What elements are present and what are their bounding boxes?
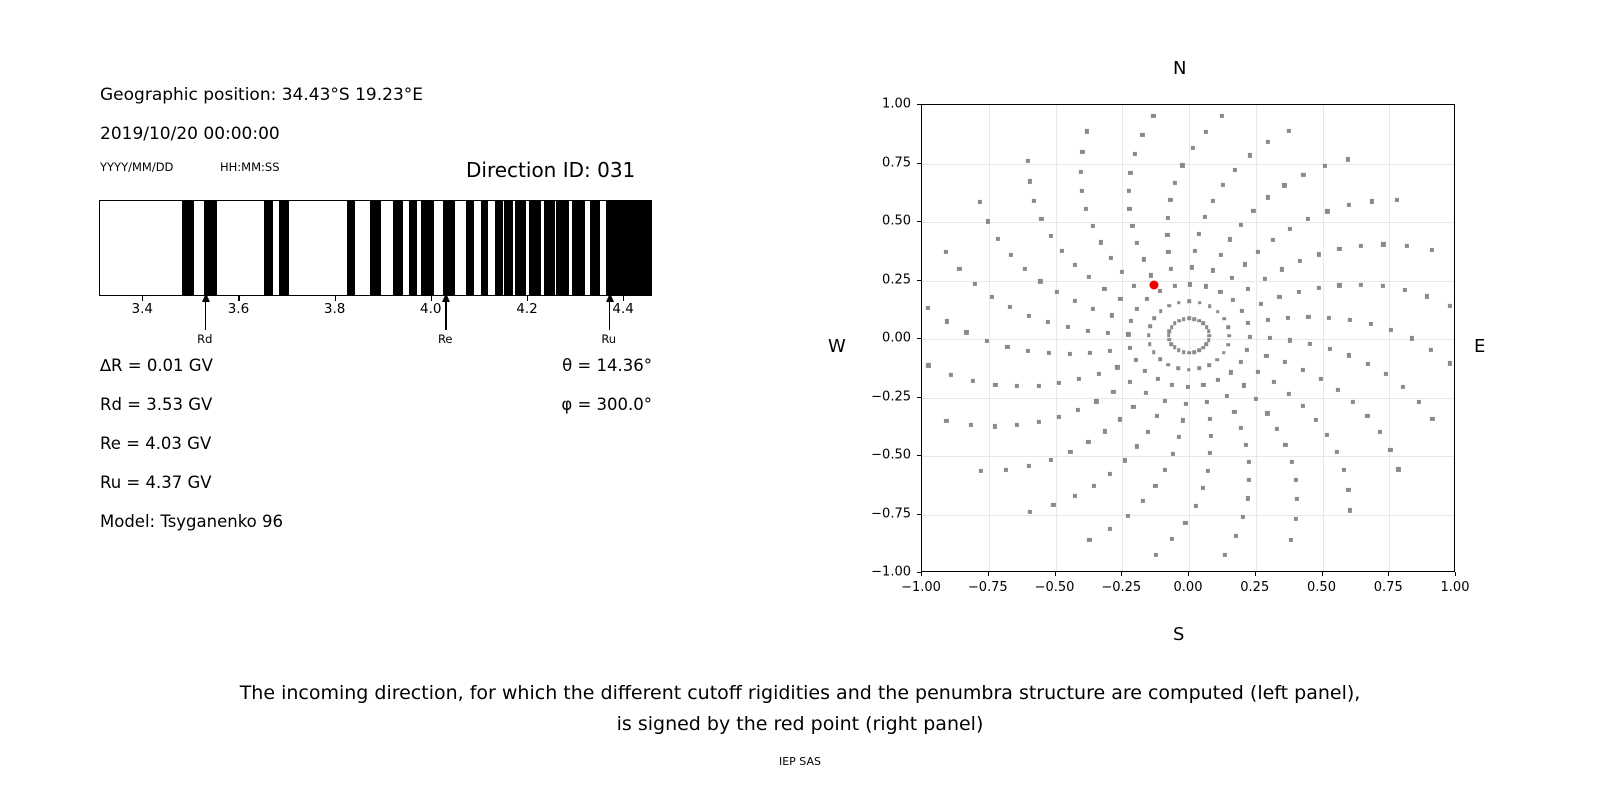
direction-dot bbox=[1038, 279, 1042, 283]
direction-dot bbox=[1282, 183, 1286, 187]
direction-dot bbox=[1271, 238, 1275, 242]
direction-dot bbox=[1283, 360, 1287, 364]
direction-dot bbox=[1126, 332, 1130, 336]
direction-dot bbox=[1163, 468, 1167, 472]
direction-dot bbox=[1228, 334, 1232, 338]
direction-dot bbox=[1027, 313, 1031, 317]
gridline-horizontal bbox=[922, 456, 1454, 457]
direction-dot bbox=[1277, 295, 1281, 299]
direction-dot bbox=[1409, 336, 1413, 340]
direction-dot bbox=[1240, 309, 1244, 313]
direction-dot bbox=[1216, 358, 1220, 362]
gridline-vertical bbox=[1122, 105, 1123, 571]
direction-dot bbox=[1401, 385, 1405, 389]
direction-dot bbox=[1036, 383, 1040, 387]
direction-dot bbox=[971, 379, 975, 383]
direction-dot bbox=[1271, 380, 1275, 384]
direction-dot bbox=[1266, 318, 1270, 322]
compass-west-label: W bbox=[828, 336, 846, 357]
scatter-y-tick-label: −0.75 bbox=[849, 506, 911, 521]
gridline-vertical bbox=[1189, 105, 1190, 571]
direction-dot bbox=[1337, 283, 1341, 287]
direction-dot bbox=[1241, 515, 1245, 519]
direction-dot bbox=[1216, 310, 1220, 314]
scatter-x-tick bbox=[988, 572, 989, 576]
direction-dot bbox=[1134, 358, 1138, 362]
direction-dot bbox=[1266, 140, 1270, 144]
gridline-horizontal bbox=[922, 398, 1454, 399]
direction-dot bbox=[1120, 270, 1124, 274]
direction-dot bbox=[996, 237, 1000, 241]
direction-dot bbox=[1317, 286, 1321, 290]
direction-dot bbox=[1111, 390, 1115, 394]
direction-dot bbox=[1039, 217, 1043, 221]
direction-dot bbox=[1190, 146, 1194, 150]
direction-dot bbox=[1177, 301, 1181, 305]
direction-dot bbox=[1154, 553, 1158, 557]
direction-dot bbox=[1208, 451, 1212, 455]
direction-dot bbox=[1168, 198, 1172, 202]
direction-dot bbox=[1049, 234, 1053, 238]
direction-dot bbox=[1097, 372, 1101, 376]
direction-dot bbox=[1193, 248, 1197, 252]
direction-dot bbox=[1088, 351, 1092, 355]
scatter-y-tick-label: 0.00 bbox=[849, 331, 911, 346]
direction-dot bbox=[1047, 351, 1051, 355]
direction-dot bbox=[1193, 504, 1197, 508]
direction-dot bbox=[1370, 199, 1374, 203]
direction-dot bbox=[973, 282, 977, 286]
scatter-y-tick-label: 1.00 bbox=[849, 97, 911, 112]
direction-dot bbox=[1225, 394, 1229, 398]
scatter-y-tick bbox=[917, 572, 921, 573]
scatter-y-tick bbox=[917, 104, 921, 105]
direction-dot bbox=[990, 295, 994, 299]
direction-dot bbox=[1337, 247, 1341, 251]
direction-dot bbox=[1155, 414, 1159, 418]
direction-dot bbox=[1090, 224, 1094, 228]
direction-dot bbox=[1127, 189, 1131, 193]
direction-dot bbox=[1140, 133, 1144, 137]
direction-dot bbox=[979, 469, 983, 473]
direction-dot bbox=[1182, 317, 1186, 321]
direction-dot bbox=[1405, 244, 1409, 248]
direction-dot bbox=[1346, 157, 1350, 161]
direction-dot bbox=[1248, 153, 1252, 157]
direction-dot bbox=[926, 363, 930, 367]
direction-dot bbox=[1327, 316, 1331, 320]
scatter-x-tick bbox=[1255, 572, 1256, 576]
direction-dot bbox=[1286, 316, 1290, 320]
direction-dot bbox=[1186, 384, 1190, 388]
direction-dot bbox=[1087, 538, 1091, 542]
direction-dot bbox=[1201, 486, 1205, 490]
direction-dot bbox=[1165, 233, 1169, 237]
direction-dot bbox=[1076, 408, 1080, 412]
direction-dot bbox=[1346, 487, 1350, 491]
direction-dot bbox=[1216, 378, 1220, 382]
direction-dot bbox=[1127, 207, 1131, 211]
direction-dot bbox=[1306, 217, 1310, 221]
direction-dot bbox=[985, 339, 989, 343]
direction-dot bbox=[1231, 298, 1235, 302]
scatter-y-tick-label: −0.50 bbox=[849, 448, 911, 463]
direction-dot bbox=[1126, 513, 1130, 517]
direction-dot bbox=[1060, 249, 1064, 253]
direction-dot bbox=[1366, 362, 1370, 366]
direction-map-panel: N S W E −1.00−0.75−0.50−0.250.000.250.50… bbox=[0, 0, 1600, 660]
direction-dot bbox=[1169, 267, 1173, 271]
compass-east-label: E bbox=[1474, 336, 1485, 357]
direction-dot bbox=[1170, 342, 1174, 346]
direction-dot bbox=[1023, 267, 1027, 271]
direction-dot bbox=[1317, 252, 1321, 256]
direction-dot bbox=[1246, 321, 1250, 325]
direction-dot bbox=[1130, 224, 1134, 228]
caption-line-1: The incoming direction, for which the di… bbox=[0, 678, 1600, 709]
direction-dot bbox=[1201, 346, 1205, 350]
scatter-y-tick-label: −0.25 bbox=[849, 389, 911, 404]
caption-line-2: is signed by the red point (right panel) bbox=[0, 709, 1600, 740]
direction-dot bbox=[978, 200, 982, 204]
direction-dot bbox=[1170, 537, 1174, 541]
gridline-vertical bbox=[989, 105, 990, 571]
compass-south-label: S bbox=[1173, 624, 1184, 645]
direction-dot bbox=[1395, 198, 1399, 202]
direction-dot bbox=[1347, 353, 1351, 357]
direction-dot bbox=[1239, 360, 1243, 364]
direction-dot bbox=[1123, 458, 1127, 462]
direction-dot bbox=[1131, 405, 1135, 409]
direction-dot bbox=[1221, 183, 1225, 187]
direction-dot bbox=[969, 423, 973, 427]
direction-dot bbox=[1207, 329, 1211, 333]
direction-dot bbox=[1198, 301, 1202, 305]
direction-dot bbox=[1308, 342, 1312, 346]
direction-dot bbox=[1147, 333, 1151, 337]
direction-dot bbox=[1297, 290, 1301, 294]
direction-dot bbox=[1151, 114, 1155, 118]
scatter-x-tick bbox=[1121, 572, 1122, 576]
direction-dot bbox=[1301, 368, 1305, 372]
direction-dot bbox=[993, 383, 997, 387]
direction-dot bbox=[1245, 348, 1249, 352]
scatter-x-tick-label: 0.75 bbox=[1374, 580, 1403, 595]
direction-dot bbox=[1251, 208, 1255, 212]
direction-dot bbox=[1087, 275, 1091, 279]
direction-dot bbox=[1159, 309, 1163, 313]
direction-dot bbox=[1264, 353, 1268, 357]
gridline-horizontal bbox=[922, 164, 1454, 165]
direction-dot bbox=[1028, 510, 1032, 514]
direction-dot bbox=[1286, 129, 1290, 133]
direction-dot bbox=[1203, 215, 1207, 219]
direction-dot bbox=[1128, 170, 1132, 174]
direction-dot bbox=[1287, 392, 1291, 396]
direction-dot bbox=[1148, 325, 1152, 329]
direction-dot bbox=[1208, 304, 1212, 308]
direction-dot bbox=[1099, 240, 1103, 244]
direction-dot bbox=[1170, 382, 1174, 386]
gridline-horizontal bbox=[922, 339, 1454, 340]
direction-dot bbox=[1218, 290, 1222, 294]
direction-dot bbox=[1301, 404, 1305, 408]
scatter-y-tick bbox=[917, 221, 921, 222]
direction-dot bbox=[1205, 325, 1209, 329]
direction-dot bbox=[1294, 478, 1298, 482]
direction-dot bbox=[1447, 304, 1451, 308]
direction-dot bbox=[1403, 288, 1407, 292]
direction-dot bbox=[1163, 398, 1167, 402]
direction-dot bbox=[1228, 237, 1232, 241]
direction-dot bbox=[1066, 325, 1070, 329]
direction-dot bbox=[1248, 334, 1252, 338]
scatter-plot-area bbox=[921, 104, 1455, 572]
direction-dot bbox=[1266, 195, 1270, 199]
direction-dot bbox=[943, 250, 947, 254]
scatter-x-tick-label: −0.75 bbox=[968, 580, 1008, 595]
direction-dot bbox=[1417, 400, 1421, 404]
direction-dot bbox=[1135, 444, 1139, 448]
direction-dot bbox=[1110, 313, 1114, 317]
direction-dot bbox=[1233, 168, 1237, 172]
direction-dot bbox=[1197, 319, 1201, 323]
direction-dot bbox=[1389, 328, 1393, 332]
scatter-x-tick-label: 0.50 bbox=[1307, 580, 1336, 595]
direction-dot bbox=[1207, 334, 1211, 338]
direction-dot bbox=[1246, 496, 1250, 500]
direction-dot bbox=[1275, 427, 1279, 431]
direction-dot bbox=[1262, 277, 1266, 281]
scatter-y-tick bbox=[917, 280, 921, 281]
direction-dot bbox=[1188, 300, 1192, 304]
direction-dot bbox=[1108, 255, 1112, 259]
direction-dot bbox=[1201, 383, 1205, 387]
direction-dot bbox=[1181, 418, 1185, 422]
direction-dot bbox=[1243, 443, 1247, 447]
gridline-vertical bbox=[1056, 105, 1057, 571]
direction-dot bbox=[1085, 129, 1089, 133]
direction-dot bbox=[1168, 329, 1172, 333]
direction-dot bbox=[1144, 391, 1148, 395]
direction-dot bbox=[1280, 267, 1284, 271]
direction-dot bbox=[1171, 452, 1175, 456]
scatter-x-tick bbox=[921, 572, 922, 576]
direction-dot bbox=[1146, 430, 1150, 434]
gridline-horizontal bbox=[922, 281, 1454, 282]
direction-dot bbox=[1176, 366, 1180, 370]
direction-dot bbox=[1057, 415, 1061, 419]
direction-dot bbox=[1091, 307, 1095, 311]
direction-dot bbox=[1230, 276, 1234, 280]
direction-dot bbox=[1222, 317, 1226, 321]
direction-dot bbox=[1084, 207, 1088, 211]
direction-dot bbox=[1077, 377, 1081, 381]
direction-dot bbox=[1429, 347, 1433, 351]
direction-dot bbox=[1005, 345, 1009, 349]
direction-dot bbox=[1197, 348, 1201, 352]
direction-dot bbox=[1118, 297, 1122, 301]
direction-dot bbox=[1211, 268, 1215, 272]
direction-dot bbox=[1086, 329, 1090, 333]
direction-dot bbox=[1128, 346, 1132, 350]
direction-dot bbox=[1158, 358, 1162, 362]
direction-dot bbox=[1219, 253, 1223, 257]
scatter-y-tick-label: −1.00 bbox=[849, 565, 911, 580]
direction-dot bbox=[1051, 503, 1055, 507]
direction-dot bbox=[1294, 517, 1298, 521]
direction-dot bbox=[1348, 508, 1352, 512]
direction-dot bbox=[1153, 484, 1157, 488]
direction-dot bbox=[957, 267, 961, 271]
direction-dot bbox=[1129, 319, 1133, 323]
direction-dot bbox=[1027, 179, 1031, 183]
direction-dot bbox=[1325, 209, 1329, 213]
direction-dot bbox=[1298, 259, 1302, 263]
direction-dot bbox=[1254, 397, 1258, 401]
direction-dot bbox=[1172, 284, 1176, 288]
gridline-vertical bbox=[1256, 105, 1257, 571]
direction-dot bbox=[1015, 384, 1019, 388]
direction-dot bbox=[1086, 440, 1090, 444]
direction-dot bbox=[1211, 199, 1215, 203]
direction-dot bbox=[1233, 534, 1237, 538]
direction-dot bbox=[1314, 418, 1318, 422]
direction-dot bbox=[1448, 361, 1452, 365]
direction-dot bbox=[1152, 316, 1156, 320]
direction-dot bbox=[1239, 426, 1243, 430]
direction-dot bbox=[1256, 249, 1260, 253]
selected-direction-marker[interactable] bbox=[1150, 281, 1159, 290]
direction-dot bbox=[1222, 553, 1226, 557]
direction-dot bbox=[1135, 241, 1139, 245]
direction-dot bbox=[1222, 351, 1226, 355]
direction-dot bbox=[1207, 338, 1211, 342]
direction-dot bbox=[1180, 163, 1184, 167]
direction-dot bbox=[1290, 460, 1294, 464]
direction-dot bbox=[1197, 367, 1201, 371]
direction-dot bbox=[1226, 343, 1230, 347]
direction-dot bbox=[1027, 464, 1031, 468]
direction-dot bbox=[1057, 381, 1061, 385]
direction-dot bbox=[1073, 494, 1077, 498]
direction-dot bbox=[1037, 420, 1041, 424]
direction-dot bbox=[1015, 423, 1019, 427]
direction-dot bbox=[1378, 430, 1382, 434]
gridline-vertical bbox=[1389, 105, 1390, 571]
gridline-vertical bbox=[1323, 105, 1324, 571]
scatter-x-tick bbox=[1055, 572, 1056, 576]
direction-dot bbox=[1073, 299, 1077, 303]
direction-dot bbox=[1103, 429, 1107, 433]
direction-dot bbox=[1167, 304, 1171, 308]
direction-dot bbox=[1182, 350, 1186, 354]
scatter-x-tick bbox=[1188, 572, 1189, 576]
direction-dot bbox=[1166, 250, 1170, 254]
direction-dot bbox=[1173, 181, 1177, 185]
direction-dot bbox=[1158, 289, 1162, 293]
direction-dot bbox=[1026, 158, 1030, 162]
direction-dot bbox=[1226, 325, 1230, 329]
direction-dot bbox=[1268, 336, 1272, 340]
direction-dot bbox=[1145, 297, 1149, 301]
direction-dot bbox=[1246, 287, 1250, 291]
direction-dot bbox=[1239, 223, 1243, 227]
direction-dot bbox=[1067, 352, 1071, 356]
direction-dot bbox=[1183, 521, 1187, 525]
direction-dot bbox=[1118, 417, 1122, 421]
direction-dot bbox=[1334, 450, 1338, 454]
scatter-x-tick-label: 0.25 bbox=[1240, 580, 1269, 595]
direction-dot bbox=[1188, 282, 1192, 286]
direction-dot bbox=[1335, 388, 1339, 392]
direction-dot bbox=[1328, 347, 1332, 351]
direction-dot bbox=[1190, 265, 1194, 269]
direction-dot bbox=[1204, 284, 1208, 288]
direction-dot bbox=[1381, 284, 1385, 288]
direction-dot bbox=[1319, 377, 1323, 381]
direction-dot bbox=[945, 319, 949, 323]
scatter-x-tick-label: 1.00 bbox=[1441, 580, 1470, 595]
direction-dot bbox=[1295, 497, 1299, 501]
direction-dot bbox=[1143, 369, 1147, 373]
direction-dot bbox=[1255, 370, 1259, 374]
direction-dot bbox=[1322, 164, 1326, 168]
direction-dot bbox=[1135, 307, 1139, 311]
direction-dot bbox=[1347, 203, 1351, 207]
direction-dot bbox=[1342, 468, 1346, 472]
direction-dot bbox=[1046, 320, 1050, 324]
direction-dot bbox=[1205, 342, 1209, 346]
scatter-x-tick bbox=[1388, 572, 1389, 576]
figure-caption: The incoming direction, for which the di… bbox=[0, 678, 1600, 740]
direction-dot bbox=[1288, 338, 1292, 342]
direction-dot bbox=[1205, 400, 1209, 404]
direction-dot bbox=[1080, 150, 1084, 154]
direction-dot bbox=[1004, 468, 1008, 472]
direction-dot bbox=[926, 306, 930, 310]
direction-dot bbox=[1177, 348, 1181, 352]
direction-dot bbox=[1192, 350, 1196, 354]
scatter-y-tick bbox=[917, 338, 921, 339]
direction-dot bbox=[1348, 318, 1352, 322]
direction-dot bbox=[1242, 383, 1246, 387]
direction-dot bbox=[1026, 349, 1030, 353]
direction-dot bbox=[1115, 365, 1119, 369]
direction-dot bbox=[1359, 283, 1363, 287]
direction-dot bbox=[1068, 450, 1072, 454]
direction-dot bbox=[986, 219, 990, 223]
direction-dot bbox=[1177, 319, 1181, 323]
direction-dot bbox=[1106, 331, 1110, 335]
direction-dot bbox=[1388, 447, 1392, 451]
scatter-x-tick bbox=[1455, 572, 1456, 576]
scatter-y-tick bbox=[917, 455, 921, 456]
direction-dot bbox=[1265, 411, 1269, 415]
direction-dot bbox=[1167, 363, 1171, 367]
direction-dot bbox=[1184, 401, 1188, 405]
direction-dot bbox=[1049, 458, 1053, 462]
direction-dot bbox=[1207, 363, 1211, 367]
credit-label: IEP SAS bbox=[0, 755, 1600, 768]
direction-dot bbox=[1187, 317, 1191, 321]
direction-dot bbox=[1197, 232, 1201, 236]
direction-dot bbox=[1168, 338, 1172, 342]
direction-dot bbox=[1141, 257, 1145, 261]
direction-dot bbox=[1192, 317, 1196, 321]
compass-north-label: N bbox=[1173, 58, 1186, 79]
direction-dot bbox=[1429, 248, 1433, 252]
